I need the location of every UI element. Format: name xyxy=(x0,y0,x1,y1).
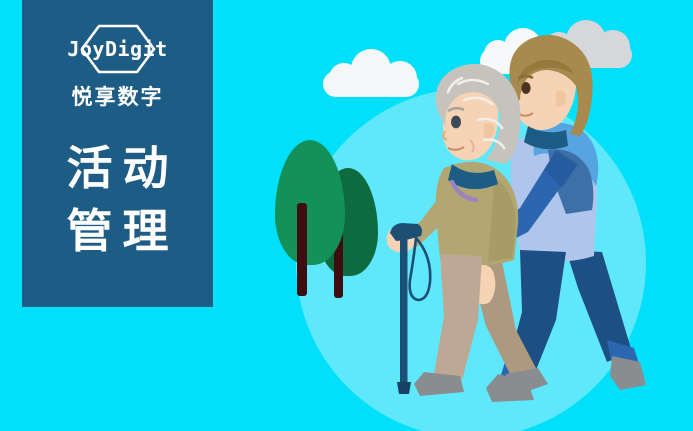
poster-canvas: JoyDigit 悦享数字 活动 管理 xyxy=(0,0,693,431)
logo-wordmark: JoyDigit xyxy=(48,34,188,64)
woman-near-leg xyxy=(434,254,482,380)
poster-title-line-1: 活动 xyxy=(57,137,179,200)
brand-panel: JoyDigit 悦享数字 活动 管理 xyxy=(22,0,213,307)
logo: JoyDigit xyxy=(48,26,188,72)
cane-shaft xyxy=(400,238,408,386)
woman-eye xyxy=(451,116,461,129)
young-man-far-shoe xyxy=(610,356,646,390)
poster-title-line-2: 管理 xyxy=(57,200,179,263)
poster-title: 活动 管理 xyxy=(57,137,179,263)
brand-name-cn: 悦享数字 xyxy=(72,81,164,111)
cane-tip xyxy=(397,382,411,394)
young-man-eye xyxy=(521,82,530,94)
